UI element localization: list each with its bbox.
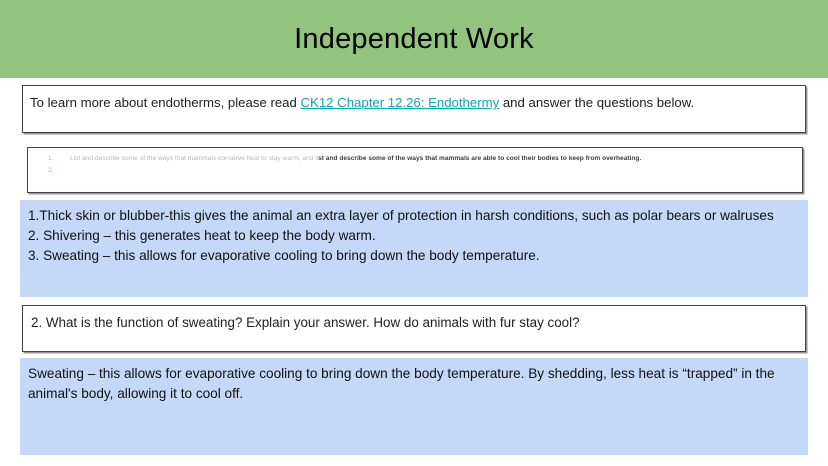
prompt-dark-1: st and describe some of the ways that ma… — [318, 155, 641, 162]
answer-area-2[interactable]: Sweating – this allows for evaporative c… — [20, 358, 808, 455]
prompt-number-1: 1. — [34, 153, 70, 165]
slide-canvas: Independent Work To learn more about end… — [0, 0, 828, 466]
prompt-number-2: 2. — [34, 165, 70, 177]
answer-1-lines: 1.Thick skin or blubber-this gives the a… — [28, 206, 802, 266]
intro-textbox: To learn more about endotherms, please r… — [22, 85, 806, 133]
list-item: 1. List and describe some of the ways th… — [34, 153, 796, 165]
intro-text: To learn more about endotherms, please r… — [30, 94, 798, 112]
question-2-textbox: 2. What is the function of sweating? Exp… — [22, 305, 806, 352]
prompt-textbox: 1. List and describe some of the ways th… — [27, 147, 803, 193]
intro-text-before: To learn more about endotherms, please r… — [30, 95, 301, 110]
answer-1-line-2: 2. Shivering – this generates heat to ke… — [28, 226, 802, 246]
page-title: Independent Work — [294, 25, 534, 54]
slide-header: Independent Work — [0, 0, 828, 78]
prompt-list: 1. List and describe some of the ways th… — [34, 153, 796, 176]
intro-text-after: and answer the questions below. — [499, 95, 694, 110]
ck12-endothermy-link[interactable]: CK12 Chapter 12.26: Endothermy — [301, 95, 500, 110]
answer-area-1[interactable]: 1.Thick skin or blubber-this gives the a… — [20, 200, 808, 297]
list-item: 2. — [34, 165, 796, 177]
answer-1-line-1: 1.Thick skin or blubber-this gives the a… — [28, 206, 802, 226]
answer-2-text: Sweating – this allows for evaporative c… — [28, 364, 790, 405]
prompt-light-1: List and describe some of the ways that … — [70, 155, 318, 162]
question-2-text: 2. What is the function of sweating? Exp… — [31, 315, 580, 330]
prompt-body-1: List and describe some of the ways that … — [70, 153, 796, 165]
answer-1-line-3: 3. Sweating – this allows for evaporativ… — [28, 246, 802, 266]
